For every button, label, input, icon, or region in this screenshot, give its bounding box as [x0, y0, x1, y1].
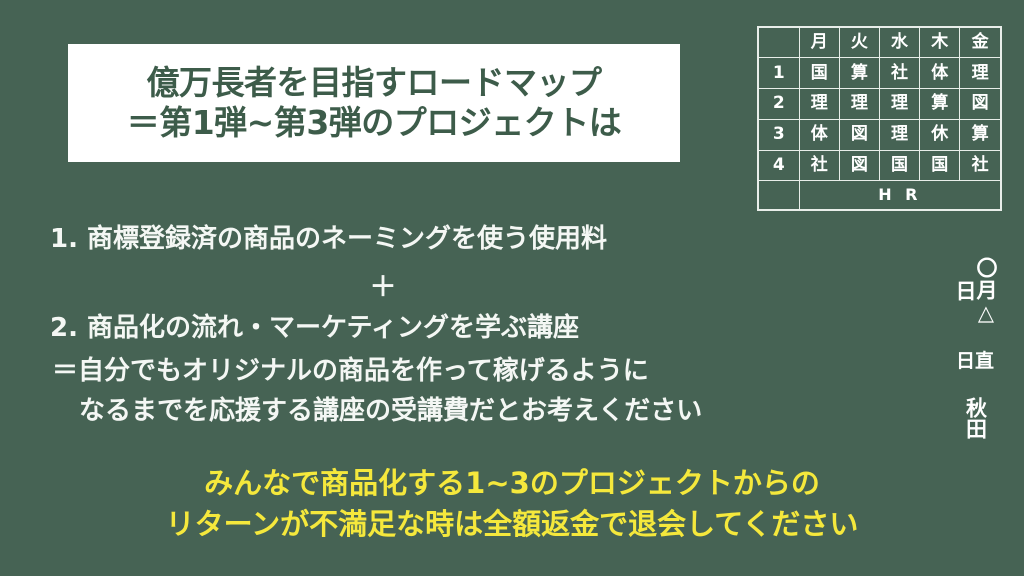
timetable-cell: 図: [960, 89, 1000, 120]
timetable-corner-cell: [759, 28, 799, 58]
timetable-period-2: 2: [759, 89, 799, 120]
timetable-cell: 理: [799, 89, 839, 120]
timetable-cell: 休: [920, 119, 960, 150]
timetable-cell: 理: [879, 119, 919, 150]
timetable-cell: 理: [879, 89, 919, 120]
timetable-cell: 算: [920, 89, 960, 120]
plus-sign: ＋: [0, 274, 766, 301]
timetable-homeroom-label: H R: [799, 181, 1000, 209]
class-timetable: 月 火 水 木 金 1 国 算 社 体 理 2 理 理: [757, 26, 1002, 211]
timetable-cell: 体: [920, 58, 960, 89]
timetable-cell: 社: [960, 150, 1000, 181]
timetable-cell: 体: [799, 119, 839, 150]
timetable-period-4: 4: [759, 150, 799, 181]
timetable-cell: 図: [839, 119, 879, 150]
list-item-2-equals-line: ＝自分でもオリジナルの商品を作って稼げるように: [52, 358, 649, 384]
title-line-1: 億万長者を目指すロードマップ: [147, 63, 602, 103]
timetable-period-3: 3: [759, 119, 799, 150]
duty-block: 〇月△日 日直 秋田: [952, 252, 998, 441]
timetable-cell: 算: [839, 58, 879, 89]
duty-name-text: 秋田: [965, 395, 986, 441]
timetable-day-wed: 水: [879, 28, 919, 58]
list-item-2-continued-line: なるまでを応援する講座の受講費だとお考えください: [79, 398, 702, 424]
duty-date-text: 〇月△日: [954, 252, 996, 330]
timetable-day-fri: 金: [960, 28, 1000, 58]
timetable-period-1: 1: [759, 58, 799, 89]
timetable-cell: 理: [839, 89, 879, 120]
timetable-cell: 社: [799, 150, 839, 181]
duty-label-text: 日直: [952, 346, 998, 373]
timetable-cell: 理: [960, 58, 1000, 89]
timetable-cell: 国: [799, 58, 839, 89]
timetable-cell: 国: [879, 150, 919, 181]
timetable-table: 月 火 水 木 金 1 国 算 社 体 理 2 理 理: [759, 28, 1000, 209]
timetable-cell: 社: [879, 58, 919, 89]
timetable-cell: 国: [920, 150, 960, 181]
timetable-row: 3 体 図 理 休 算: [759, 119, 1000, 150]
timetable-day-mon: 月: [799, 28, 839, 58]
timetable-row: 2 理 理 理 算 図: [759, 89, 1000, 120]
timetable-day-tue: 火: [839, 28, 879, 58]
timetable-cell: 算: [960, 119, 1000, 150]
timetable-cell: 図: [839, 150, 879, 181]
timetable-footer-blank: [759, 181, 799, 209]
list-item-2: 2. 商品化の流れ・マーケティングを学ぶ講座: [50, 315, 579, 341]
timetable-row: 1 国 算 社 体 理: [759, 58, 1000, 89]
timetable-row: 4 社 図 国 国 社: [759, 150, 1000, 181]
closing-line-2: リターンが不満足な時は全額返金で退会してください: [0, 504, 1024, 545]
title-line-2: ＝第1弾~第3弾のプロジェクトは: [127, 103, 622, 143]
closing-line-1: みんなで商品化する1~3のプロジェクトからの: [0, 463, 1024, 504]
timetable-day-thu: 木: [920, 28, 960, 58]
closing-message: みんなで商品化する1~3のプロジェクトからの リターンが不満足な時は全額返金で退…: [0, 463, 1024, 545]
timetable-header-row: 月 火 水 木 金: [759, 28, 1000, 58]
list-item-1: 1. 商標登録済の商品のネーミングを使う使用料: [50, 226, 607, 252]
chalkboard-background: 億万長者を目指すロードマップ ＝第1弾~第3弾のプロジェクトは 月 火 水 木 …: [0, 0, 1024, 576]
title-box: 億万長者を目指すロードマップ ＝第1弾~第3弾のプロジェクトは: [68, 44, 680, 162]
timetable-footer-row: H R: [759, 181, 1000, 209]
